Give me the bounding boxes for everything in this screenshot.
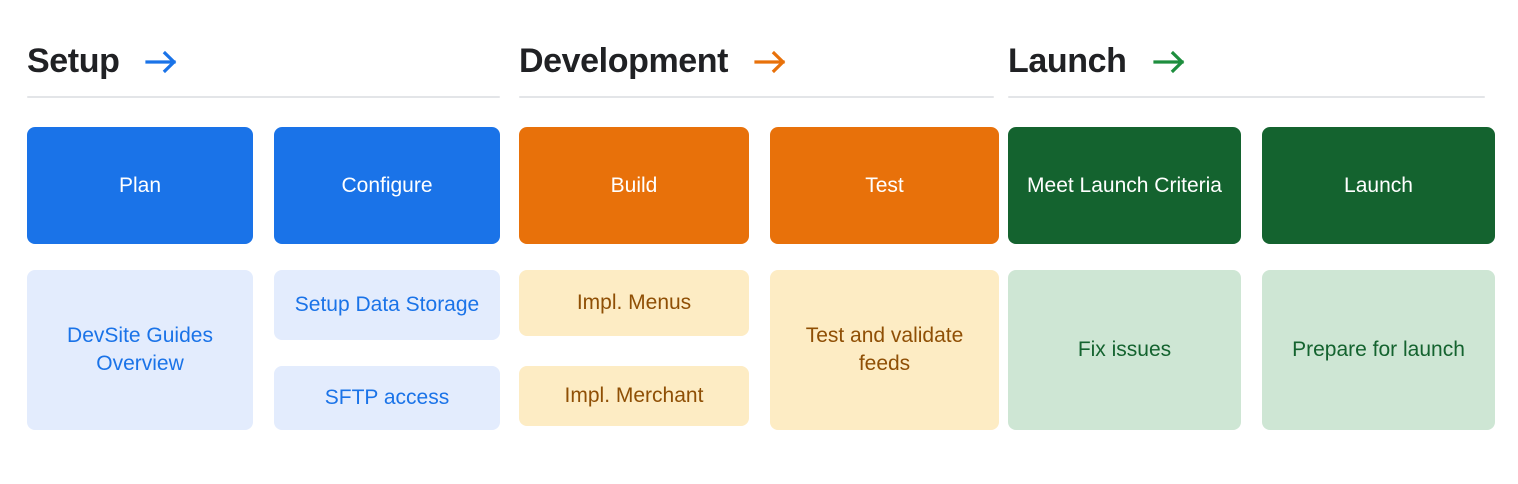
card-plan[interactable]: Plan <box>27 127 253 244</box>
phase-divider-setup <box>27 96 500 98</box>
track-configure: Configure Setup Data Storage SFTP access <box>274 127 500 430</box>
arrow-right-icon <box>1153 49 1187 75</box>
roadmap-board: Setup Plan DevSite Guides Overview Confi… <box>0 0 1518 484</box>
phase-header-setup: Setup <box>27 0 500 96</box>
arrow-right-icon <box>754 49 788 75</box>
phase-header-development: Development <box>519 0 994 96</box>
phase-body-launch: Meet Launch Criteria Fix issues Launch P… <box>1008 127 1518 430</box>
card-test[interactable]: Test <box>770 127 999 244</box>
arrow-right-icon <box>145 49 179 75</box>
card-launch[interactable]: Launch <box>1262 127 1495 244</box>
track-plan: Plan DevSite Guides Overview <box>27 127 253 430</box>
card-configure[interactable]: Configure <box>274 127 500 244</box>
card-impl-merchant[interactable]: Impl. Merchant <box>519 366 749 426</box>
card-setup-data-storage[interactable]: Setup Data Storage <box>274 270 500 340</box>
subcards-build: Impl. Menus Impl. Merchant <box>519 270 749 426</box>
track-meet-launch-criteria: Meet Launch Criteria Fix issues <box>1008 127 1241 430</box>
card-prepare-for-launch[interactable]: Prepare for launch <box>1262 270 1495 430</box>
card-sftp-access[interactable]: SFTP access <box>274 366 500 430</box>
phase-title-setup: Setup <box>27 44 119 78</box>
card-devsite-guides-overview[interactable]: DevSite Guides Overview <box>27 270 253 430</box>
phase-body-setup: Plan DevSite Guides Overview Configure S… <box>27 127 500 430</box>
card-build[interactable]: Build <box>519 127 749 244</box>
card-test-and-validate-feeds[interactable]: Test and validate feeds <box>770 270 999 430</box>
phase-body-development: Build Impl. Menus Impl. Merchant Test Te… <box>519 127 994 430</box>
phase-title-development: Development <box>519 44 728 78</box>
card-impl-menus[interactable]: Impl. Menus <box>519 270 749 336</box>
track-test: Test Test and validate feeds <box>770 127 999 430</box>
phase-divider-launch <box>1008 96 1485 98</box>
track-launch: Launch Prepare for launch <box>1262 127 1495 430</box>
phase-divider-development <box>519 96 994 98</box>
phase-column-launch: Launch Meet Launch Criteria Fix issues L… <box>994 0 1518 484</box>
subcards-configure: Setup Data Storage SFTP access <box>274 270 500 430</box>
phase-column-setup: Setup Plan DevSite Guides Overview Confi… <box>0 0 500 484</box>
card-meet-launch-criteria[interactable]: Meet Launch Criteria <box>1008 127 1241 244</box>
phase-title-launch: Launch <box>1008 44 1127 78</box>
card-fix-issues[interactable]: Fix issues <box>1008 270 1241 430</box>
track-build: Build Impl. Menus Impl. Merchant <box>519 127 749 430</box>
phase-header-launch: Launch <box>1008 0 1518 96</box>
phase-column-development: Development Build Impl. Menus Impl. Merc… <box>500 0 994 484</box>
